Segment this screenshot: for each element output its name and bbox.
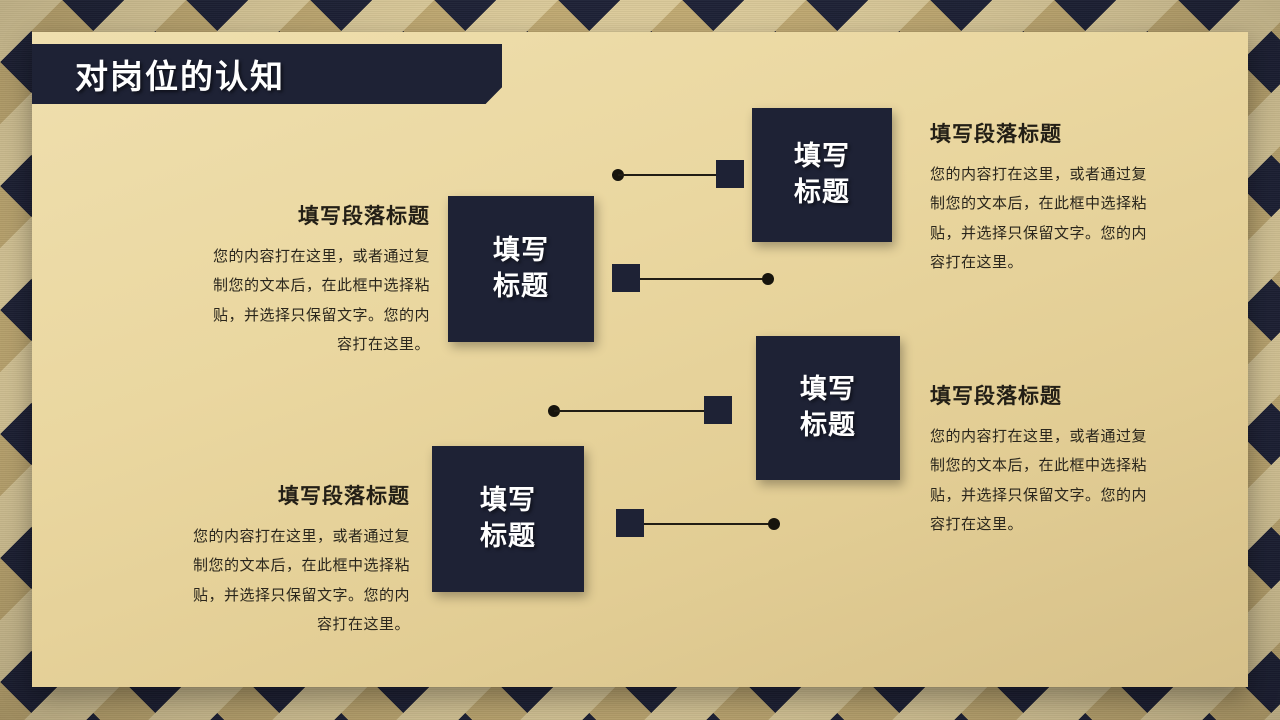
node-box-1[interactable]: 填写 标题 [752, 108, 892, 242]
paragraph-block-2-body: 您的内容打在这里，或者通过复制您的文本后，在此框中选择粘贴，并选择只保留文字。您… [198, 242, 430, 359]
paragraph-block-3-body: 您的内容打在这里，或者通过复制您的文本后，在此框中选择粘贴，并选择只保留文字。您… [930, 422, 1152, 539]
connector-line [618, 174, 718, 176]
node-box-3-line2: 标题 [800, 408, 856, 444]
paragraph-block-3-title: 填写段落标题 [930, 380, 1152, 410]
connector-line [640, 278, 767, 280]
node-box-2-line1: 填写 [493, 233, 549, 269]
node-box-2-line2: 标题 [493, 269, 549, 305]
node-box-1-line1: 填写 [794, 139, 850, 175]
node-box-2[interactable]: 填写 标题 [448, 196, 594, 342]
connector-square-icon [704, 396, 732, 424]
paragraph-block-2-title: 填写段落标题 [198, 200, 430, 230]
node-box-4-line2: 标题 [480, 519, 536, 555]
paragraph-block-1: 填写段落标题 您的内容打在这里，或者通过复制您的文本后，在此框中选择粘贴，并选择… [930, 118, 1152, 277]
connector-row-4 [616, 517, 788, 531]
connector-row-2 [612, 272, 782, 286]
node-box-3[interactable]: 填写 标题 [756, 336, 900, 480]
connector-square-icon [616, 509, 644, 537]
slide-canvas: 对岗位的认知 填写 标题 填写段落标题 您的内容打在这里，或者通过复制您的文本后… [0, 0, 1280, 720]
node-box-1-line2: 标题 [794, 175, 850, 211]
paragraph-block-4-title: 填写段落标题 [178, 480, 410, 510]
paragraph-block-4: 填写段落标题 您的内容打在这里，或者通过复制您的文本后，在此框中选择粘贴，并选择… [178, 480, 410, 639]
paragraph-block-4-body: 您的内容打在这里，或者通过复制您的文本后，在此框中选择粘贴，并选择只保留文字。您… [178, 522, 410, 639]
connector-dot-icon [762, 273, 774, 285]
connector-square-icon [716, 160, 744, 188]
connector-dot-icon [768, 518, 780, 530]
slide-title-banner: 对岗位的认知 [32, 44, 502, 104]
paragraph-block-1-title: 填写段落标题 [930, 118, 1152, 148]
connector-row-1 [612, 168, 758, 182]
connector-line [554, 410, 706, 412]
paragraph-block-2: 填写段落标题 您的内容打在这里，或者通过复制您的文本后，在此框中选择粘贴，并选择… [198, 200, 430, 359]
paragraph-block-1-body: 您的内容打在这里，或者通过复制您的文本后，在此框中选择粘贴，并选择只保留文字。您… [930, 160, 1152, 277]
page-title: 对岗位的认知 [75, 50, 285, 98]
paragraph-block-3: 填写段落标题 您的内容打在这里，或者通过复制您的文本后，在此框中选择粘贴，并选择… [930, 380, 1152, 539]
node-box-4[interactable]: 填写 标题 [432, 446, 584, 592]
connector-square-icon [612, 264, 640, 292]
connector-row-3 [548, 404, 740, 418]
connector-line [644, 523, 774, 525]
node-box-4-line1: 填写 [480, 483, 536, 519]
node-box-3-line1: 填写 [800, 372, 856, 408]
